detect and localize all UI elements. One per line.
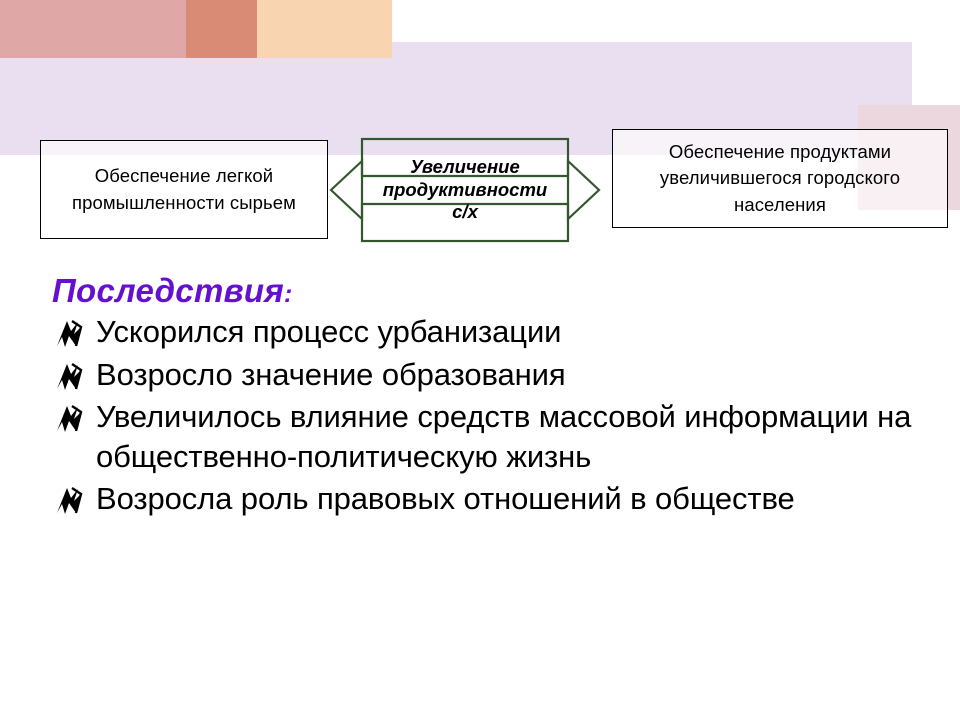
list-item: Увеличилось влияние средств массовой инф… bbox=[52, 397, 932, 478]
zigzag-arrow-bullet-icon bbox=[54, 361, 90, 393]
diagram-box-urban-food-supply: Обеспечение продуктами увеличившегося го… bbox=[612, 129, 948, 228]
diagram-box-right-label: Обеспечение продуктами увеличившегося го… bbox=[613, 139, 947, 218]
diagram-box-light-industry: Обеспечение легкой промышленности сырьем bbox=[40, 140, 328, 239]
consequences-section: Последствия: Ускорился процесс урбанизац… bbox=[52, 272, 932, 522]
center-label-line-1: Увеличение bbox=[410, 156, 519, 179]
center-label-line-3: с/х bbox=[452, 201, 478, 224]
diagram-box-left-label: Обеспечение легкой промышленности сырьем bbox=[41, 163, 327, 216]
list-item: Возросло значение образования bbox=[52, 355, 932, 395]
consequences-heading-colon: : bbox=[284, 280, 293, 308]
list-item-text: Возросло значение образования bbox=[96, 357, 566, 392]
diagram-double-arrow-productivity: Увеличение продуктивности с/х bbox=[328, 136, 602, 244]
list-item-text: Ускорился процесс урбанизации bbox=[96, 314, 561, 349]
zigzag-arrow-bullet-icon bbox=[54, 403, 90, 435]
consequences-heading-text: Последствия bbox=[52, 272, 284, 309]
consequences-list: Ускорился процесс урбанизации Возросло з… bbox=[52, 312, 932, 519]
diagram-center-label: Увеличение продуктивности с/х bbox=[362, 136, 568, 244]
list-item: Возросла роль правовых отношений в общес… bbox=[52, 479, 932, 519]
zigzag-arrow-bullet-icon bbox=[54, 485, 90, 517]
zigzag-arrow-bullet-icon bbox=[54, 318, 90, 350]
list-item-text: Увеличилось влияние средств массовой инф… bbox=[96, 399, 911, 474]
list-item-text: Возросла роль правовых отношений в общес… bbox=[96, 481, 795, 516]
flow-diagram: Обеспечение легкой промышленности сырьем… bbox=[0, 0, 960, 260]
center-label-line-2: продуктивности bbox=[383, 179, 547, 202]
presentation-slide: Обеспечение легкой промышленности сырьем… bbox=[0, 0, 960, 720]
list-item: Ускорился процесс урбанизации bbox=[52, 312, 932, 352]
consequences-heading: Последствия: bbox=[52, 272, 932, 310]
